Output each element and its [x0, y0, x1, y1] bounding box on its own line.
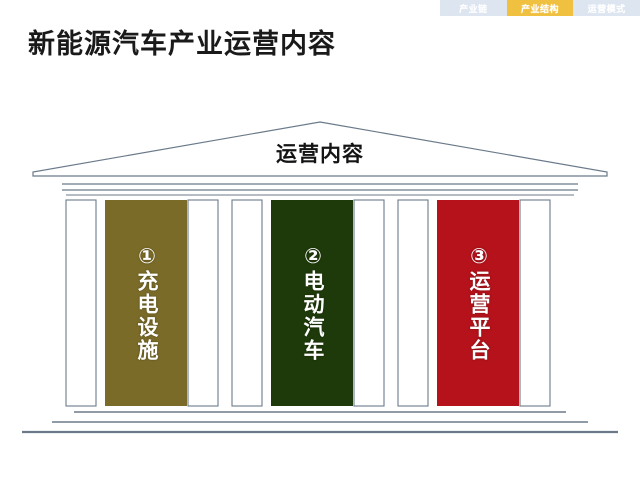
tab-industry-structure[interactable]: 产业结构 — [507, 0, 574, 16]
entablature — [62, 184, 578, 195]
pillar-label-3: ③运营平台 — [467, 244, 489, 362]
tab-industry-chain[interactable]: 产业链 — [440, 0, 507, 16]
pillar-label-1: ①充电设施 — [135, 244, 157, 362]
pillar-charging-facilities[interactable]: ①充电设施 — [105, 200, 187, 406]
page-title: 新能源汽车产业运营内容 — [28, 22, 336, 61]
tab-operating-model[interactable]: 运营模式 — [573, 0, 640, 16]
pillar-electric-vehicles[interactable]: ②电动汽车 — [271, 200, 353, 406]
roof-label: 运营内容 — [0, 138, 640, 168]
pillar-label-2: ②电动汽车 — [301, 244, 323, 362]
temple-diagram: 运营内容 ①充电设施 ②电动汽车 ③运营平台 — [0, 110, 640, 440]
pillar-operating-platform[interactable]: ③运营平台 — [437, 200, 519, 406]
temple-base — [22, 412, 618, 432]
top-navigation-bar: 产业链 产业结构 运营模式 — [440, 0, 640, 16]
